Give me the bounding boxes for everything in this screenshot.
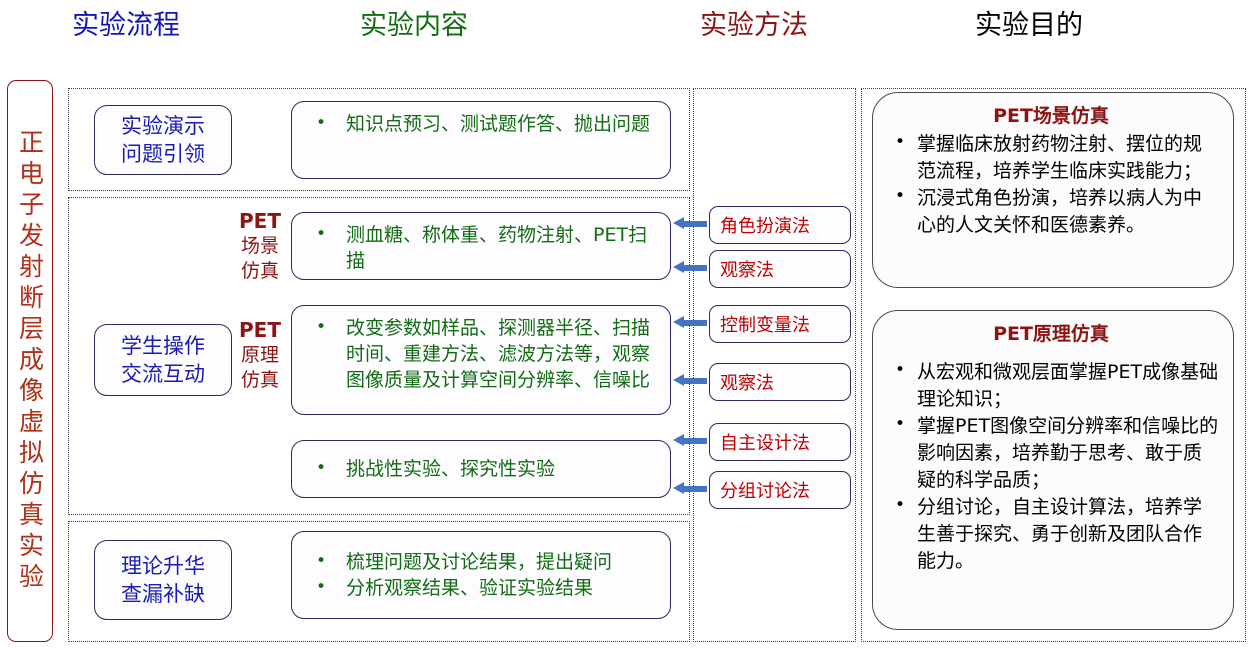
arrow-left-icon (673, 316, 707, 329)
pet-label-line3: 仿真 (229, 259, 291, 284)
method-box-roleplay[interactable]: 角色扮演法 (709, 206, 851, 244)
vertical-title-text: 正电子发射断层成像虚拟仿真实验 (14, 129, 47, 594)
goal-panel-principle-sim[interactable]: PET原理仿真 从宏观和微观层面掌握PET成像基础理论知识； 掌握PET图像空间… (872, 310, 1234, 630)
goal-item: 沉浸式角色扮演，培养以病人为中心的人文关怀和医德素养。 (883, 185, 1219, 239)
method-box-self-design[interactable]: 自主设计法 (709, 423, 851, 461)
content-box-summary[interactable]: 梳理问题及讨论结果，提出疑问 分析观察结果、验证实验结果 (291, 531, 671, 619)
arrow-left-icon (673, 261, 707, 274)
method-box-observation-2[interactable]: 观察法 (709, 363, 851, 401)
goal-title: PET场景仿真 (883, 103, 1219, 129)
stage-line1: 实验演示 (121, 112, 205, 140)
stage-box-demo[interactable]: 实验演示 问题引领 (94, 105, 232, 175)
arrow-left-icon (673, 217, 707, 230)
stage-box-operation[interactable]: 学生操作 交流互动 (94, 324, 232, 396)
goal-item: 掌握PET图像空间分辨率和信噪比的影响因素，培养勤于思考、敢于质疑的科学品质； (883, 413, 1219, 494)
goal-item: 掌握临床放射药物注射、摆位的规范流程，培养学生临床实践能力； (883, 131, 1219, 185)
vertical-title-bar: 正电子发射断层成像虚拟仿真实验 (7, 80, 53, 642)
stage-line1: 学生操作 (121, 332, 205, 360)
pet-label-line2: 场景 (229, 234, 291, 259)
arrow-left-icon (673, 434, 707, 447)
stage-line1: 理论升华 (121, 552, 205, 580)
content-box-preview[interactable]: 知识点预习、测试题作答、抛出问题 (291, 101, 671, 179)
content-item: 改变参数如样品、探测器半径、扫描时间、重建方法、滤波方法等，观察图像质量及计算空… (306, 315, 660, 393)
arrow-left-icon (673, 482, 707, 495)
column-header-goal: 实验目的 (975, 10, 1083, 42)
pet-label-line3: 仿真 (229, 368, 291, 393)
stage-line2: 问题引领 (121, 140, 205, 168)
pet-label-line2: 原理 (229, 343, 291, 368)
column-header-content: 实验内容 (360, 10, 468, 42)
stage-box-theory[interactable]: 理论升华 查漏补缺 (94, 540, 232, 620)
stage-line2: 查漏补缺 (121, 580, 205, 608)
pet-principle-sim-label: PET 原理 仿真 (229, 318, 291, 393)
goal-title: PET原理仿真 (883, 321, 1219, 347)
content-item: 分析观察结果、验证实验结果 (306, 575, 660, 601)
column-header-method: 实验方法 (700, 10, 808, 42)
method-box-observation-1[interactable]: 观察法 (709, 250, 851, 288)
pet-label-abbr: PET (229, 318, 291, 343)
arrow-left-icon (673, 374, 707, 387)
goal-panel-scene-sim[interactable]: PET场景仿真 掌握临床放射药物注射、摆位的规范流程，培养学生临床实践能力； 沉… (872, 92, 1234, 288)
content-box-challenge[interactable]: 挑战性实验、探究性实验 (291, 440, 671, 498)
pet-scene-sim-label: PET 场景 仿真 (229, 209, 291, 284)
content-item: 知识点预习、测试题作答、抛出问题 (306, 111, 660, 137)
content-item: 梳理问题及讨论结果，提出疑问 (306, 549, 660, 575)
goal-item: 分组讨论，自主设计算法，培养学生善于探究、勇于创新及团队合作能力。 (883, 494, 1219, 575)
method-box-group-discussion[interactable]: 分组讨论法 (709, 471, 851, 509)
stage-line2: 交流互动 (121, 360, 205, 388)
content-box-principle-sim[interactable]: 改变参数如样品、探测器半径、扫描时间、重建方法、滤波方法等，观察图像质量及计算空… (291, 305, 671, 415)
pet-label-abbr: PET (229, 209, 291, 234)
column-header-flow: 实验流程 (72, 10, 180, 42)
method-box-control-variable[interactable]: 控制变量法 (709, 305, 851, 343)
content-box-scene-sim[interactable]: 测血糖、称体重、药物注射、PET扫描 (291, 212, 671, 280)
content-item: 挑战性实验、探究性实验 (306, 456, 660, 482)
goal-item: 从宏观和微观层面掌握PET成像基础理论知识； (883, 359, 1219, 413)
content-item: 测血糖、称体重、药物注射、PET扫描 (306, 222, 660, 274)
